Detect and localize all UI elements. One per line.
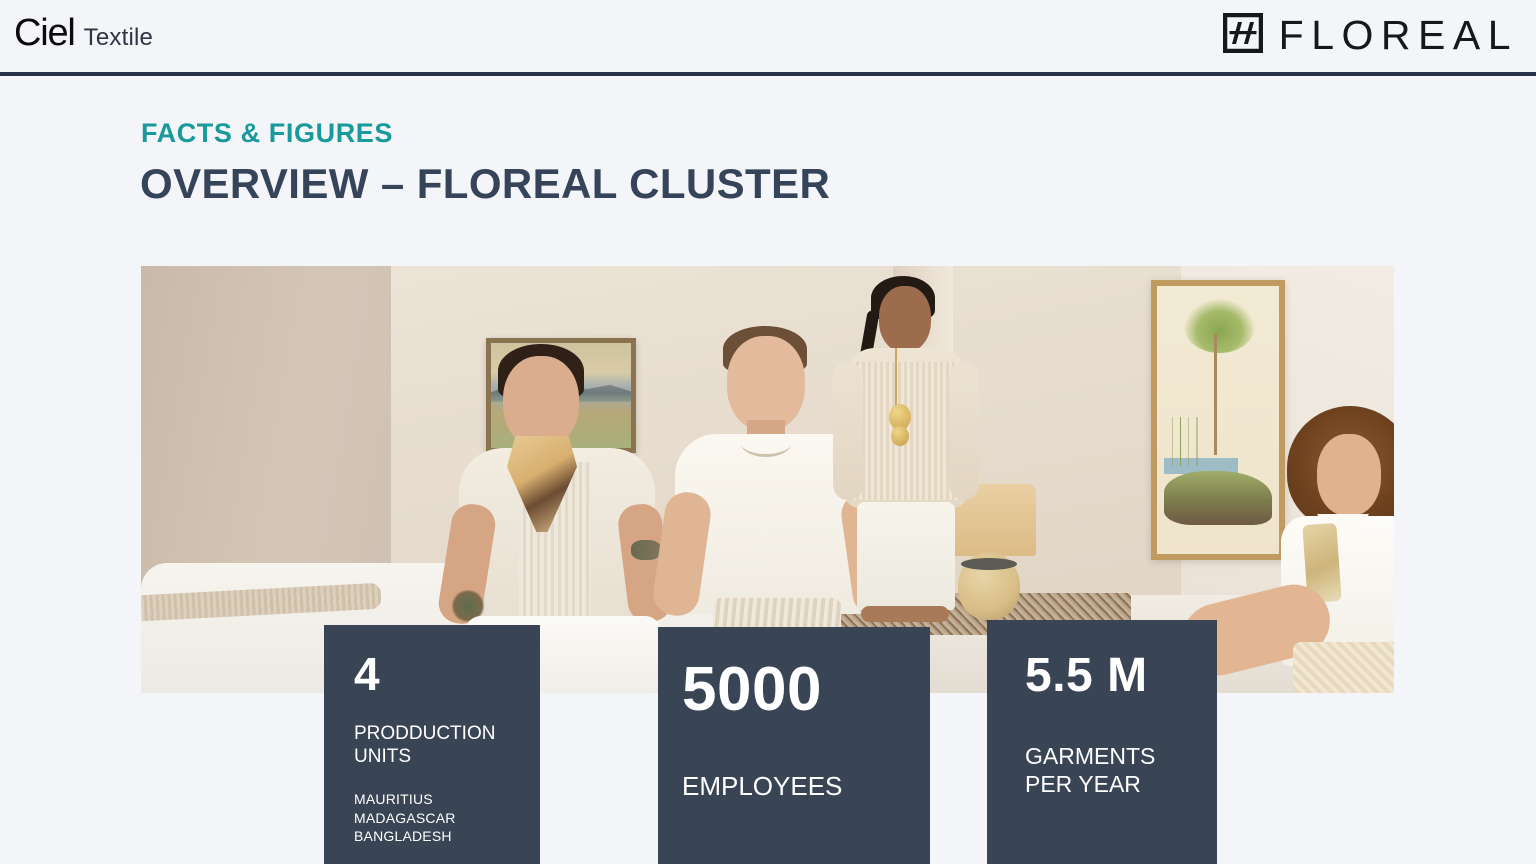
- photo-model-woman-seated: [1251, 406, 1394, 693]
- stat-label-line: UNITS: [354, 745, 510, 768]
- slide-header: Ciel Textile FLOREAL: [0, 0, 1536, 74]
- floreal-square-icon: [1223, 13, 1263, 58]
- stat-label-line: PER YEAR: [1025, 770, 1179, 798]
- stat-subline: MADAGASCAR: [354, 809, 510, 827]
- header-divider: [0, 72, 1536, 76]
- page-title: OVERVIEW – FLOREAL CLUSTER: [140, 162, 830, 206]
- stat-value: 5000: [682, 659, 906, 721]
- section-eyebrow: FACTS & FIGURES: [141, 120, 393, 147]
- stat-value: 4: [354, 651, 510, 697]
- ciel-textile-logo: Ciel Textile: [14, 14, 153, 52]
- stat-subline: MAURITIUS: [354, 790, 510, 808]
- stat-sublist: MAURITIUS MADAGASCAR BANGLADESH: [354, 790, 510, 845]
- stat-label-line: GARMENTS: [1025, 742, 1179, 770]
- stat-label: PRODDUCTION UNITS: [354, 722, 510, 768]
- stat-card-employees: 5000 EMPLOYEES: [658, 627, 930, 864]
- stat-card-production-units: 4 PRODDUCTION UNITS MAURITIUS MADAGASCAR…: [324, 625, 540, 864]
- floreal-logo: FLOREAL: [1223, 13, 1518, 58]
- stat-label-line: PRODDUCTION: [354, 722, 510, 745]
- ciel-logo-wordmark: Textile: [84, 26, 153, 50]
- stat-subline: BANGLADESH: [354, 827, 510, 845]
- floreal-wordmark: FLOREAL: [1279, 15, 1518, 56]
- stat-label: EMPLOYEES: [682, 771, 906, 803]
- stat-label: GARMENTS PER YEAR: [1025, 742, 1179, 798]
- stat-label-line: EMPLOYEES: [682, 771, 906, 803]
- ciel-logo-icon: Ciel: [14, 14, 75, 52]
- stat-card-garments: 5.5 M GARMENTS PER YEAR: [987, 620, 1217, 864]
- photo-model-woman-standing: [831, 276, 981, 626]
- stat-value: 5.5 M: [1025, 652, 1179, 700]
- slide: Ciel Textile FLOREAL FACTS & FIGURES OVE…: [0, 0, 1536, 864]
